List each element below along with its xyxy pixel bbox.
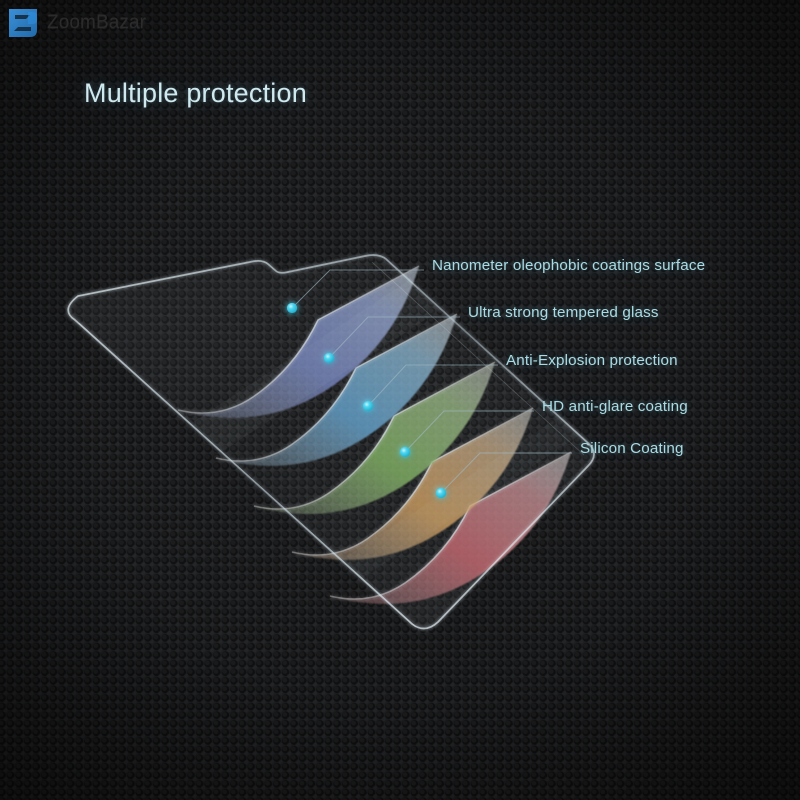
- callout-label-nanometer-oleophobic: Nanometer oleophobic coatings surface: [432, 257, 705, 274]
- callout-label-silicon-coating: Silicon Coating: [580, 440, 684, 457]
- callout-dot-silicon-coating: [436, 488, 446, 498]
- callout-label-hd-anti-glare-coating: HD anti-glare coating: [542, 398, 688, 415]
- glass-sheet: [68, 240, 618, 640]
- callout-dot-hd-anti-glare-coating: [400, 447, 410, 457]
- product-infographic: ZoomBazar Multiple protection: [0, 0, 800, 800]
- callout-label-ultra-strong-tempered-glass: Ultra strong tempered glass: [468, 304, 659, 321]
- callout-label-anti-explosion-protection: Anti-Explosion protection: [506, 352, 678, 369]
- callout-dot-nanometer-oleophobic: [287, 303, 297, 313]
- callout-dot-ultra-strong-tempered-glass: [324, 353, 334, 363]
- callout-dot-anti-explosion-protection: [363, 401, 373, 411]
